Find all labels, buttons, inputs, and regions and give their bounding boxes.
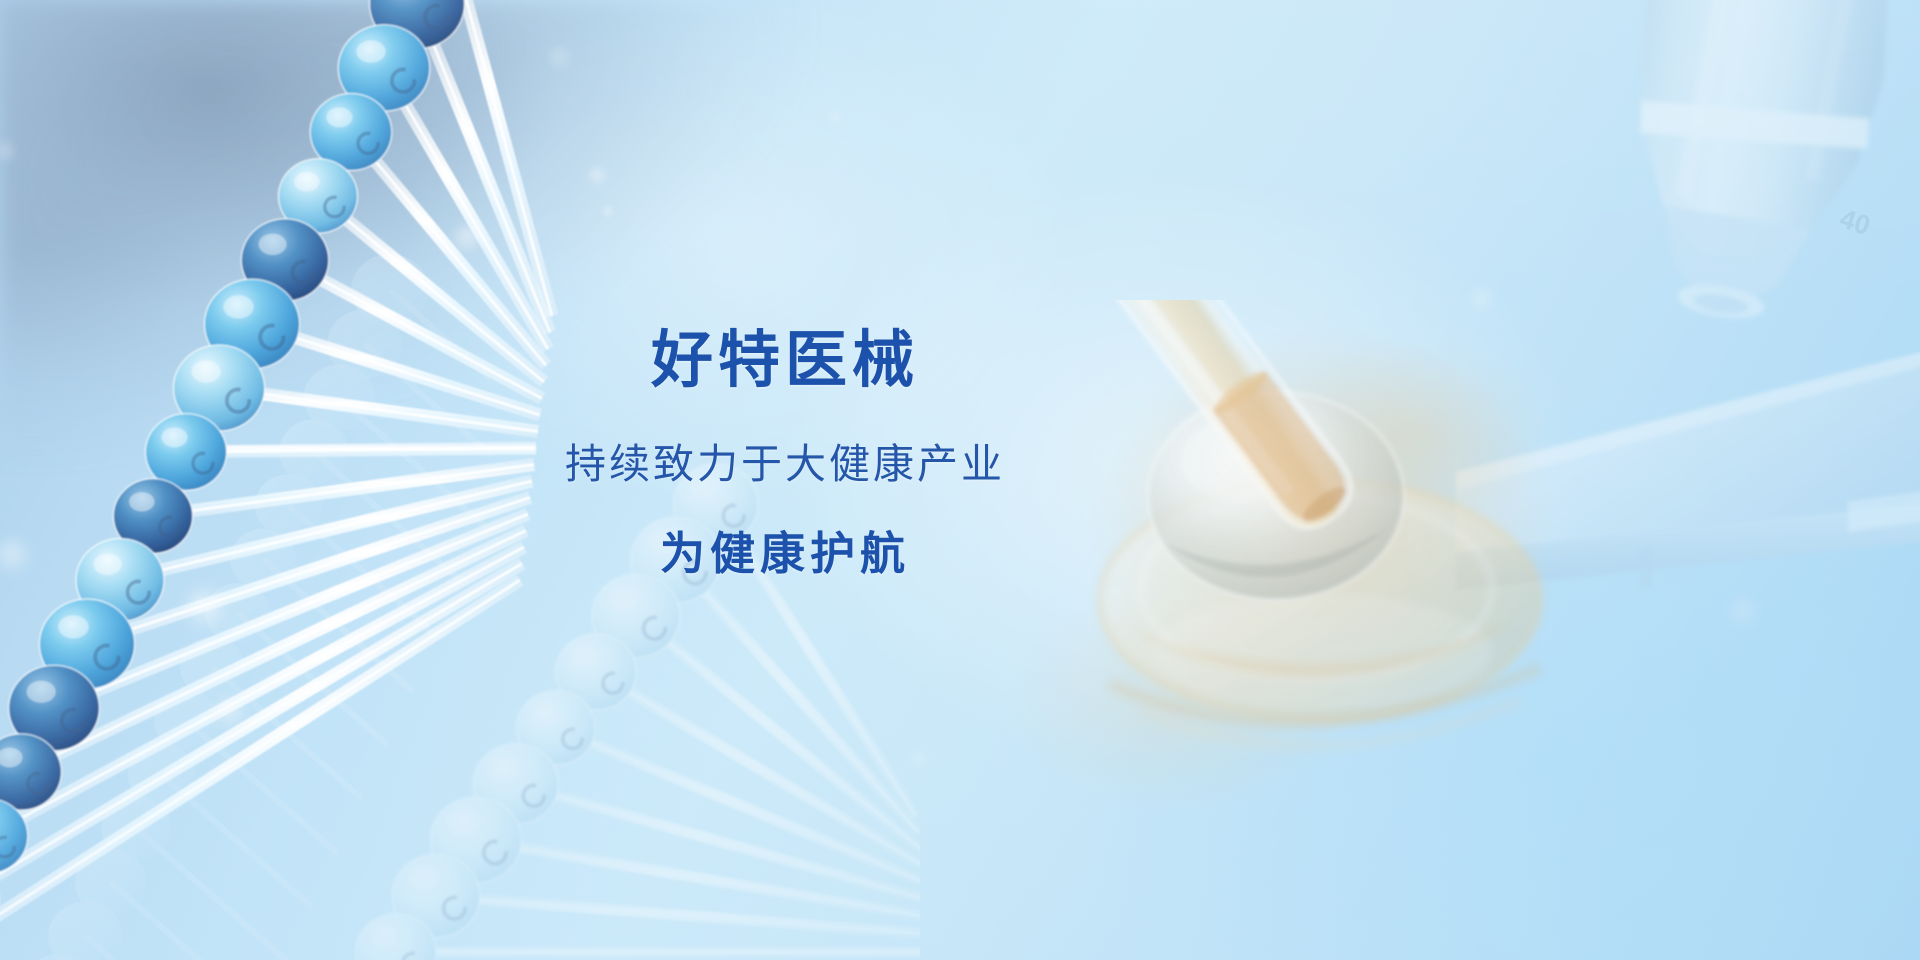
page-title: 好特医械: [565, 330, 1005, 392]
dna-rod: [444, 0, 559, 318]
dna-node: [556, 634, 637, 710]
hero-text-block: 好特医械 持续致力于大健康产业 为健康护航: [0, 330, 1920, 576]
dna-node-notch: [358, 133, 378, 153]
hero-subtitle: 持续致力于大健康产业: [565, 444, 1005, 485]
dna-node-far: [351, 254, 429, 326]
bokeh-light: [215, 697, 245, 727]
dna-node-rim: [310, 93, 392, 170]
dna-node-far: [180, 637, 245, 697]
dna-node-rim: [431, 797, 522, 883]
dna-node-notch: [62, 709, 84, 731]
dna-node-rim: [517, 691, 596, 765]
dna-node-rim: [473, 744, 558, 824]
dna-node: [241, 219, 328, 302]
dna-rod-highlight: [596, 672, 920, 867]
dna-rod-highlight: [0, 564, 522, 901]
dna-node-specular: [326, 107, 352, 127]
dna-rod: [593, 667, 920, 871]
dna-rod: [0, 558, 525, 906]
dna-node: [473, 744, 558, 824]
dna-node-notch: [403, 953, 423, 960]
dna-rod-far: [85, 936, 235, 960]
bokeh-light: [828, 110, 844, 126]
dna-node-far: [205, 583, 270, 643]
dna-rod-far: [238, 613, 388, 745]
dna-node-rim: [278, 159, 357, 234]
dna-helix-background-far-icon: [0, 200, 490, 960]
dna-node-specular: [372, 928, 398, 948]
hero-banner: 40: [0, 0, 1920, 960]
dna-node: [278, 159, 357, 234]
dna-node: [592, 574, 680, 657]
dna-rod-highlight: [676, 560, 919, 833]
dna-node-rim: [9, 665, 100, 751]
dna-rod: [475, 835, 920, 924]
dna-rod: [554, 723, 920, 889]
bokeh-light: [549, 47, 571, 69]
dna-rod-highlight: [556, 728, 920, 884]
dna-rod-highlight: [417, 4, 550, 333]
dna-rod: [396, 947, 920, 958]
dna-rod-far: [263, 559, 413, 691]
hero-tagline: 为健康护航: [565, 531, 1005, 576]
dna-rod: [378, 65, 553, 353]
dna-node-notch: [425, 6, 448, 29]
dna-rod: [672, 556, 920, 836]
dna-rod-highlight: [384, 68, 548, 349]
bokeh-light: [602, 206, 614, 218]
dna-node-rim: [369, 0, 464, 49]
dna-node-notch: [392, 69, 414, 91]
dna-node-rim: [241, 219, 328, 302]
dna-node-far: [128, 744, 195, 806]
dna-node-specular: [532, 704, 557, 723]
dna-rod-far: [111, 882, 261, 960]
dna-node: [9, 665, 100, 751]
dna-node-rim: [392, 854, 480, 937]
dna-rod: [0, 575, 524, 960]
dna-node: [431, 797, 522, 883]
dna-rod-highlight: [476, 840, 920, 918]
dna-node-specular: [409, 869, 437, 891]
dna-node: [338, 25, 430, 112]
dna-node-far: [48, 902, 123, 960]
dna-node-notch: [603, 673, 623, 693]
dna-node-rim: [338, 25, 430, 112]
dna-node: [517, 691, 596, 765]
dna-rod-highlight: [0, 580, 520, 960]
dna-node-notch: [644, 617, 666, 639]
dna-node: [0, 734, 61, 810]
dna-node-notch: [95, 646, 118, 669]
dna-rod: [515, 779, 920, 907]
dna-node-specular: [490, 758, 517, 779]
bokeh-light: [187, 590, 223, 626]
dna-node-far: [75, 849, 147, 915]
dna-node-specular: [223, 295, 254, 318]
dna-node-specular: [609, 589, 637, 611]
dna-node-notch: [128, 581, 150, 603]
dna-node-specular: [58, 615, 89, 638]
dna-rod-highlight: [516, 784, 920, 901]
dna-node-notch: [563, 729, 582, 748]
dna-node-rim: [556, 634, 637, 710]
dna-node: [392, 854, 480, 937]
dna-node-notch: [28, 773, 48, 793]
dna-node-notch: [523, 785, 544, 806]
dna-node-specular: [0, 748, 23, 768]
dna-rod: [633, 612, 920, 855]
dna-node-rim: [39, 599, 134, 689]
dna-node-rim: [0, 734, 61, 810]
dna-node-far: [21, 954, 99, 960]
dna-node-specular: [294, 172, 319, 191]
dna-node-rim: [356, 914, 437, 960]
dna-node-rim: [592, 574, 680, 657]
dna-node-specular: [449, 813, 478, 835]
dna-rod-far: [212, 667, 362, 799]
dna-rod: [411, 2, 556, 335]
dna-node-rim: [0, 799, 28, 874]
dna-node-far: [102, 796, 171, 860]
dna-rod-highlight: [436, 896, 920, 935]
dna-node: [369, 0, 464, 49]
dna-node-notch: [444, 897, 466, 919]
dna-rod-highlight: [0, 547, 524, 836]
dna-rod-far: [136, 828, 286, 960]
dna-rod-highlight: [450, 0, 552, 316]
dna-node: [0, 799, 28, 874]
dna-node-specular: [572, 648, 598, 668]
dna-node: [356, 914, 437, 960]
dna-node: [39, 599, 134, 689]
dna-node-far: [154, 690, 220, 751]
dna-rod: [0, 541, 527, 841]
dna-rod: [436, 891, 920, 941]
bokeh-light: [910, 750, 930, 770]
microscope-magnification-label: 40: [1836, 203, 1874, 241]
dna-node-specular: [27, 681, 56, 703]
dna-node: [310, 93, 392, 170]
bokeh-light: [455, 225, 481, 251]
bokeh-light: [589, 167, 607, 185]
dna-rod-highlight: [636, 616, 920, 850]
dna-node-specular: [356, 40, 385, 62]
dna-rod-far: [187, 721, 337, 853]
dna-node-notch: [293, 261, 314, 282]
dna-node-notch: [484, 841, 506, 863]
dna-node-notch: [325, 197, 344, 216]
bokeh-light: [0, 142, 16, 162]
dna-node-specular: [259, 234, 287, 255]
dna-rod-far: [162, 775, 312, 907]
dna-node-notch: [0, 837, 14, 856]
